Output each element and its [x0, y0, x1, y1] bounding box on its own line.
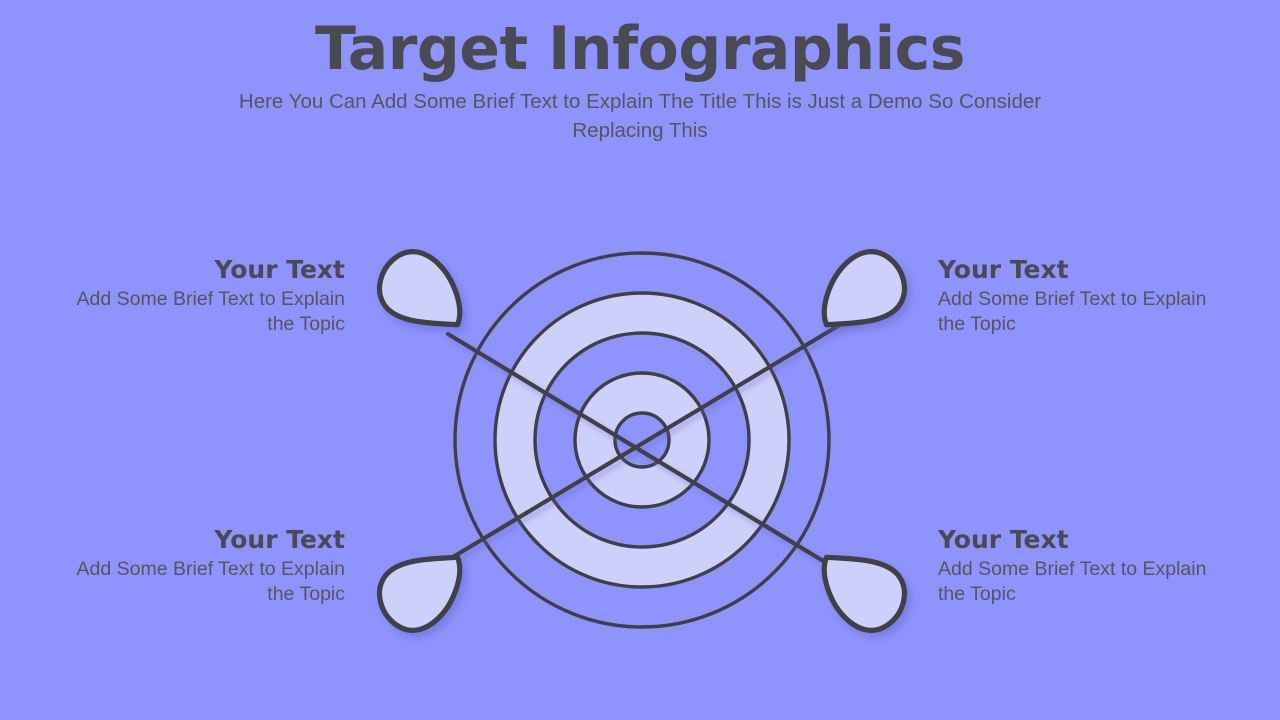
callout-body: Add Some Brief Text to Explain the Topic [938, 557, 1238, 608]
callout-title: Your Text [938, 256, 1238, 284]
callout-body: Add Some Brief Text to Explain the Topic [45, 287, 345, 338]
callout-body: Add Some Brief Text to Explain the Topic [938, 287, 1238, 338]
callout-title: Your Text [938, 526, 1238, 554]
callout-bottom-left[interactable]: Your Text Add Some Brief Text to Explain… [45, 526, 345, 608]
callout-bottom-right[interactable]: Your Text Add Some Brief Text to Explain… [938, 526, 1238, 608]
arrow-fletching-top-left [370, 242, 466, 345]
callout-title: Your Text [45, 256, 345, 284]
slide-header: Target Infographics Here You Can Add Som… [0, 18, 1280, 145]
callout-top-right[interactable]: Your Text Add Some Brief Text to Explain… [938, 256, 1238, 338]
page-title: Target Infographics [0, 18, 1280, 81]
arrow-fletching-bottom-left [370, 537, 466, 640]
callout-title: Your Text [45, 526, 345, 554]
page-subtitle: Here You Can Add Some Brief Text to Expl… [220, 87, 1060, 145]
target-rings [455, 253, 829, 627]
callout-top-left[interactable]: Your Text Add Some Brief Text to Explain… [45, 256, 345, 338]
target-diagram [350, 230, 935, 650]
arrow-fletching-bottom-right [818, 537, 914, 640]
slide-canvas: Target Infographics Here You Can Add Som… [0, 0, 1280, 720]
callout-body: Add Some Brief Text to Explain the Topic [45, 557, 345, 608]
